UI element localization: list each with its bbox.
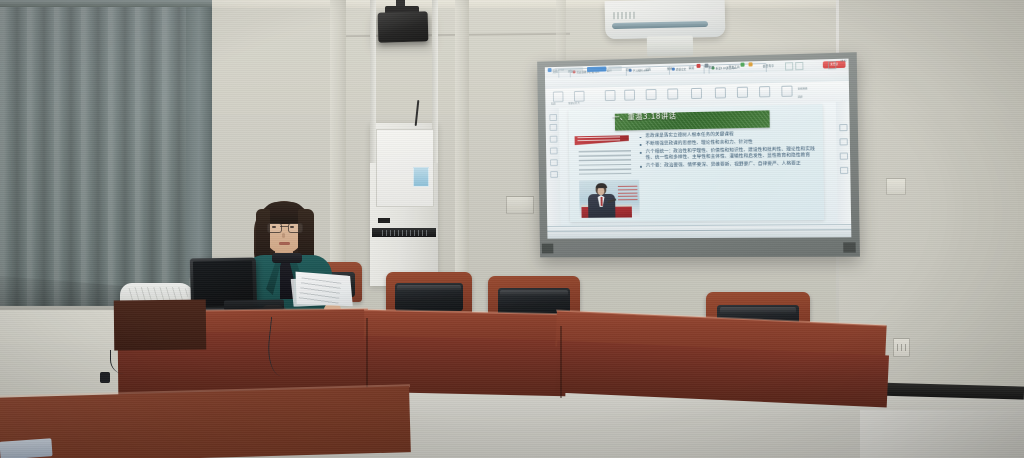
slide-title: 一、重温3.18讲话 bbox=[568, 106, 721, 126]
menu-developer[interactable]: 开发工具 bbox=[728, 64, 739, 68]
presentation-app-window[interactable]: 思政课教学汇报.pptx 学习材料.docx 讲话全文 重温3.18讲话.ppt… bbox=[545, 59, 852, 239]
cable-plug bbox=[100, 372, 110, 383]
menu-slideshow[interactable]: 放映 bbox=[667, 66, 673, 70]
tray-icon-3[interactable] bbox=[740, 63, 744, 67]
tray-icon-1[interactable] bbox=[697, 64, 701, 68]
table-seam-1 bbox=[366, 318, 368, 394]
menu-member[interactable]: 会员专享 bbox=[763, 63, 774, 67]
menu-review[interactable]: 审阅 bbox=[689, 66, 695, 70]
menu-transition[interactable]: 切换 bbox=[626, 67, 632, 71]
projector-icon bbox=[378, 11, 429, 42]
window-minimize-icon[interactable] bbox=[785, 62, 793, 70]
paste-label: 粘贴 bbox=[551, 101, 556, 105]
window-maximize-icon[interactable] bbox=[795, 62, 803, 70]
glasses-bridge bbox=[280, 226, 288, 227]
person-nose bbox=[282, 233, 285, 238]
wall-air-conditioner bbox=[605, 0, 726, 39]
taskbar-item-1[interactable] bbox=[554, 67, 583, 73]
slide-bullet-3: 六个相统一：政治性和学理性、价值性和知识性、建设性和批判性、理论性和实践性、统一… bbox=[639, 147, 815, 162]
slide-quote-text-block bbox=[579, 150, 632, 175]
person-mouth bbox=[279, 242, 290, 245]
standing-ac-label bbox=[413, 167, 429, 187]
right-rail-icon-1[interactable] bbox=[839, 124, 847, 131]
paragraph-icon[interactable] bbox=[646, 89, 657, 100]
chair-1-highlight bbox=[397, 285, 461, 291]
eyeglasses-icon bbox=[267, 223, 301, 231]
slide-thumb-6[interactable] bbox=[550, 171, 558, 178]
slide-bullet-4: 六个要：政治要强、情怀要深、思维要新、视野要广、自律要严、人格要正 bbox=[639, 161, 815, 170]
app-tab-3-label: 讲话全文 bbox=[676, 68, 686, 71]
slide-red-banner-text bbox=[577, 136, 620, 142]
current-slide[interactable]: 一、重温3.18讲话 bbox=[568, 104, 824, 222]
outline-icon[interactable] bbox=[737, 87, 748, 98]
slide-thumb-5[interactable] bbox=[550, 159, 558, 166]
standing-ac-vent-louvers bbox=[382, 230, 428, 236]
find-replace-icon[interactable] bbox=[781, 86, 792, 97]
photo-speaker-hair bbox=[595, 183, 607, 188]
effects-icon[interactable] bbox=[759, 86, 770, 97]
menu-animation[interactable]: 动画 bbox=[645, 67, 651, 71]
curtain-folds bbox=[0, 0, 196, 306]
wall-speaker-box bbox=[506, 196, 534, 214]
projection-screen-board[interactable]: 思政课教学汇报.pptx 学习材料.docx 讲话全文 重温3.18讲话.ppt… bbox=[537, 52, 860, 257]
slide-thumb-4[interactable] bbox=[550, 147, 558, 154]
presenter-desk-panel bbox=[114, 300, 207, 351]
layout-icon[interactable] bbox=[605, 90, 616, 101]
tray-icon-4[interactable] bbox=[749, 63, 753, 67]
right-rail-icon-4[interactable] bbox=[840, 167, 848, 174]
window-close-icon[interactable] bbox=[828, 61, 836, 69]
wall-outlet[interactable] bbox=[893, 338, 910, 357]
wall-ac-bracket bbox=[647, 36, 693, 57]
slide-canvas[interactable]: 一、重温3.18讲话 bbox=[559, 102, 838, 227]
person-collar bbox=[272, 253, 302, 263]
start-button-icon[interactable] bbox=[548, 68, 552, 72]
shapes-icon[interactable] bbox=[667, 88, 678, 99]
wall-pilaster-right bbox=[556, 0, 566, 60]
select-label: 选择 bbox=[798, 94, 803, 98]
window-curtain[interactable] bbox=[0, 0, 196, 306]
photo-caption-lines bbox=[618, 186, 638, 202]
arrange-icon[interactable] bbox=[691, 88, 702, 99]
os-taskbar[interactable] bbox=[547, 229, 851, 239]
slide-thumb-2[interactable] bbox=[550, 124, 558, 131]
slide-thumb-1[interactable] bbox=[549, 114, 557, 121]
taskbar-item-active[interactable] bbox=[587, 67, 606, 72]
wall-pilaster-mid bbox=[455, 0, 469, 292]
taskbar-clock: 15:42 bbox=[840, 60, 846, 63]
board-corner-bl bbox=[542, 244, 554, 254]
slide-thumb-3[interactable] bbox=[550, 136, 558, 143]
wall-ac-grill bbox=[613, 12, 635, 19]
slide-speaker-photo bbox=[579, 180, 640, 218]
screen-display[interactable]: 思政课教学汇报.pptx 学习材料.docx 讲话全文 重温3.18讲话.ppt… bbox=[545, 59, 852, 239]
find-replace-label: 查找替换 bbox=[798, 86, 808, 90]
board-corner-br bbox=[843, 242, 856, 252]
menu-view[interactable]: 视图 bbox=[708, 65, 714, 69]
fill-icon[interactable] bbox=[715, 87, 726, 98]
foreground-object bbox=[0, 438, 53, 458]
chair-3-highlight bbox=[720, 307, 797, 314]
slide-bullet-list: 思政课是落实立德树人根本任务的关键课程 不断增强思政课的思想性、理论性和亲和力、… bbox=[638, 131, 815, 171]
photo-speaker-face bbox=[598, 187, 605, 195]
curtain-panel-right[interactable] bbox=[186, 0, 212, 278]
glasses-lens-right bbox=[288, 223, 303, 233]
photograph-scene: 思政课教学汇报.pptx 学习材料.docx 讲话全文 重温3.18讲话.ppt… bbox=[0, 0, 1024, 458]
floor-reflection bbox=[860, 410, 1024, 458]
font-icon[interactable] bbox=[624, 90, 635, 101]
wall-fixture-box bbox=[886, 178, 906, 195]
chair-2-highlight bbox=[500, 290, 568, 296]
curtain-rail bbox=[0, 0, 212, 7]
glasses-lens-left bbox=[267, 223, 282, 233]
photo-speaker-tie bbox=[600, 197, 603, 206]
right-rail-icon-2[interactable] bbox=[839, 138, 847, 145]
right-rail-icon-3[interactable] bbox=[840, 153, 848, 160]
foreground-table bbox=[0, 386, 411, 458]
tray-icon-2[interactable] bbox=[704, 64, 708, 68]
standing-ac-buttons[interactable] bbox=[378, 218, 390, 223]
new-slide-label: 新建幻灯片 bbox=[568, 101, 580, 105]
taskbar-item-2[interactable] bbox=[608, 66, 622, 71]
table-seam-2 bbox=[560, 326, 562, 398]
